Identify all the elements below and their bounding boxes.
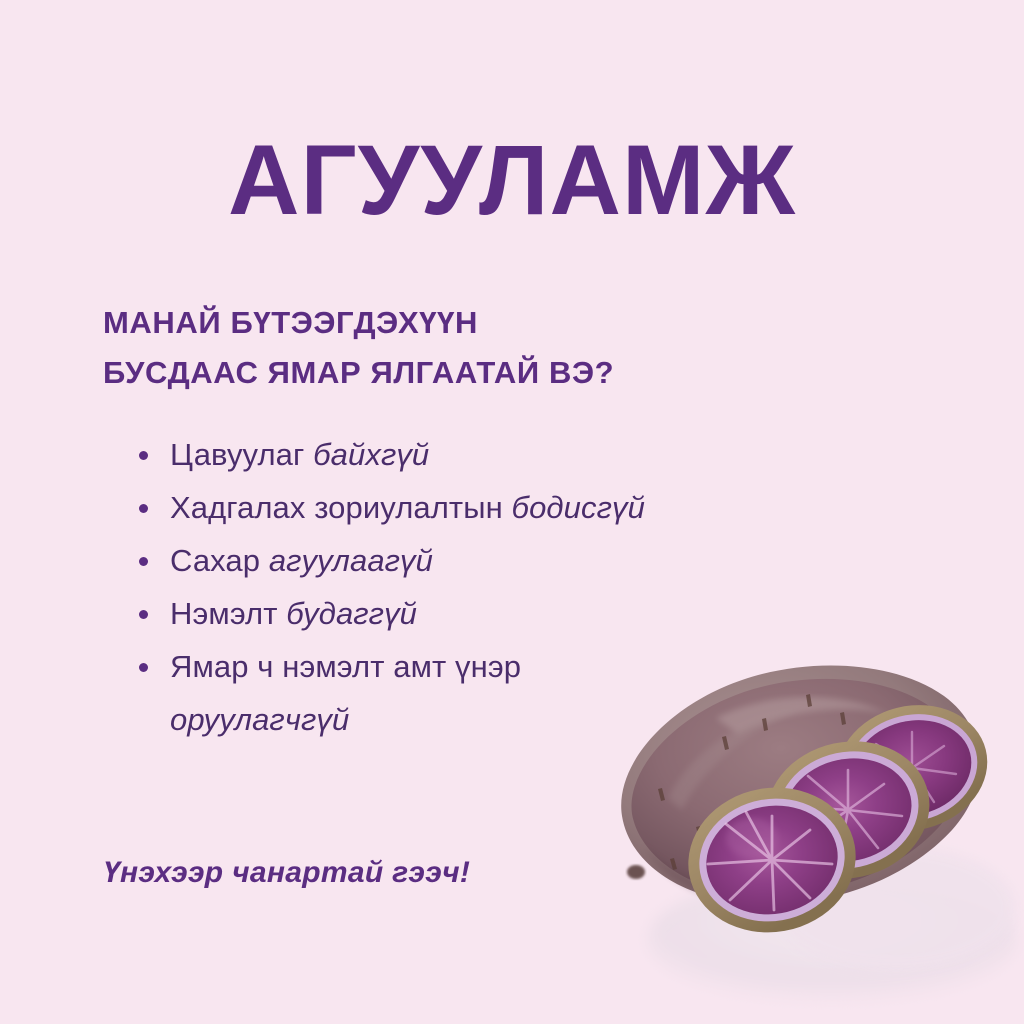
list-item: Нэмэлт будаггүй <box>131 587 651 640</box>
purple-sweet-potato-illustration <box>596 640 1024 1024</box>
list-item: Цавуулаг байхгүй <box>131 428 651 481</box>
subheading-line-2: БУСДААС ЯМАР ЯЛГААТАЙ ВЭ? <box>103 348 614 398</box>
subheading-line-1: МАНАЙ БҮТЭЭГДЭХҮҮН <box>103 298 614 348</box>
feature-text: Ямар ч нэмэлт амт үнэр <box>170 649 521 684</box>
list-item: Ямар ч нэмэлт амт үнэр оруулагчгүй <box>131 640 651 746</box>
feature-emphasis: будаггүй <box>286 596 417 631</box>
list-item: Сахар агуулаагүй <box>131 534 651 587</box>
feature-text: Цавуулаг <box>170 437 313 472</box>
feature-text: Хадгалах зориулалтын <box>170 490 512 525</box>
list-item: Хадгалах зориулалтын бодисгүй <box>131 481 651 534</box>
subheading: МАНАЙ БҮТЭЭГДЭХҮҮН БУСДААС ЯМАР ЯЛГААТАЙ… <box>103 298 614 398</box>
feature-emphasis: бодисгүй <box>512 490 645 525</box>
feature-list: Цавуулаг байхгүй Хадгалах зориулалтын бо… <box>131 428 651 746</box>
feature-text: Нэмэлт <box>170 596 286 631</box>
poster-canvas: АГУУЛАМЖ МАНАЙ БҮТЭЭГДЭХҮҮН БУСДААС ЯМАР… <box>0 0 1024 1024</box>
feature-emphasis: агуулаагүй <box>269 543 433 578</box>
page-title: АГУУЛАМЖ <box>0 128 1024 233</box>
feature-text: Сахар <box>170 543 269 578</box>
tagline: Үнэхээр чанартай гээч! <box>103 856 470 890</box>
feature-emphasis: байхгүй <box>313 437 429 472</box>
feature-emphasis: оруулагчгүй <box>170 702 349 737</box>
